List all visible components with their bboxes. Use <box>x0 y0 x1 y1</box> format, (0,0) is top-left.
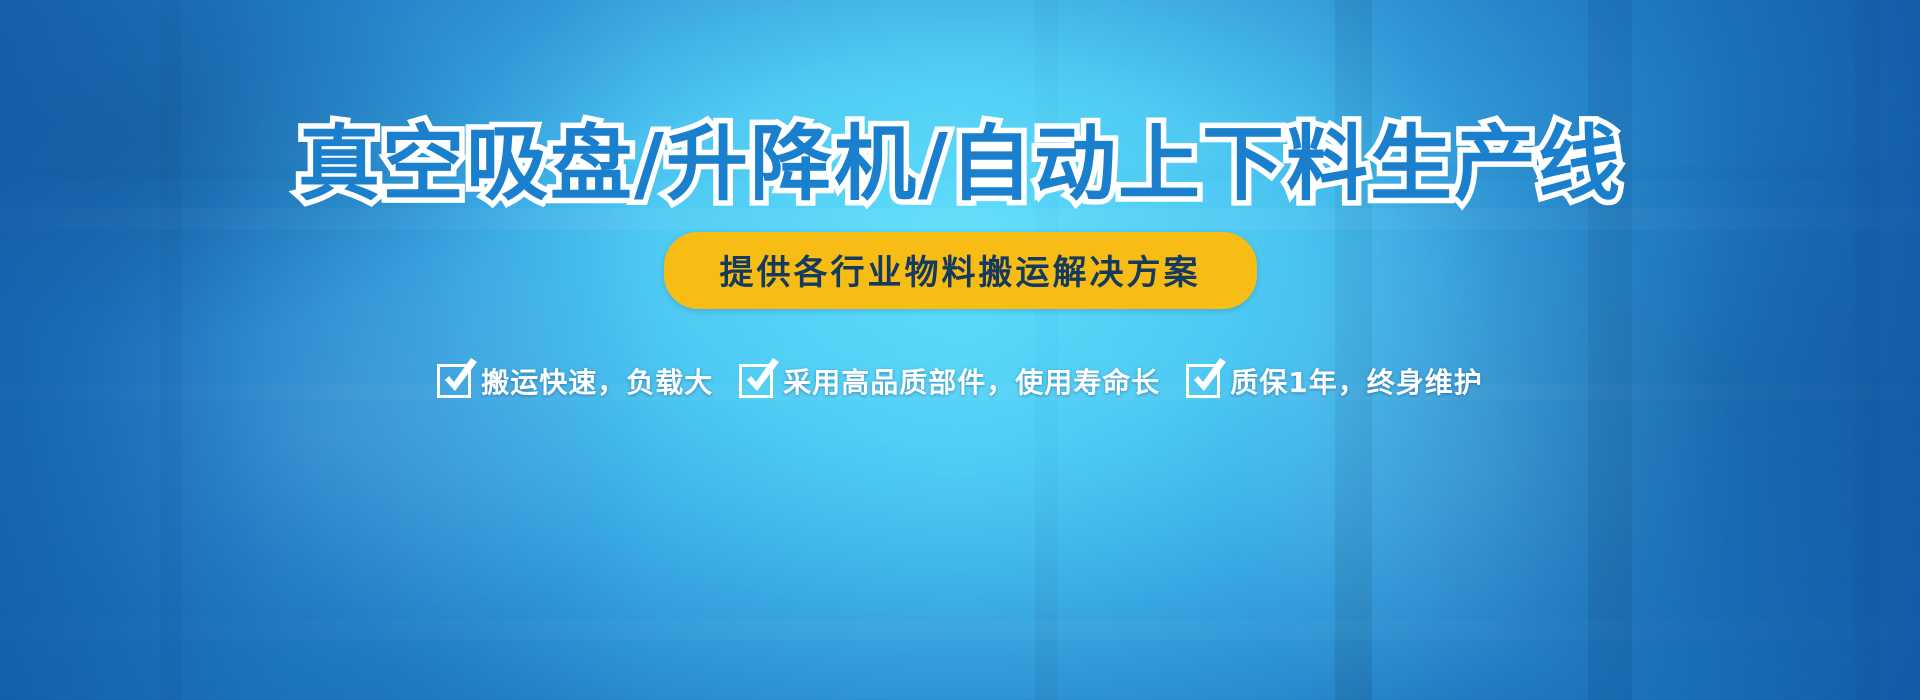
feature-item: 质保1年，终身维护 <box>1186 361 1482 401</box>
feature-list: 搬运快速，负载大 采用高品质部件，使用寿命长 质保1年，终身维护 <box>437 361 1483 401</box>
banner-content: 真空吸盘/升降机/自动上下料生产线 提供各行业物料搬运解决方案 搬运快速，负载大 <box>0 0 1920 700</box>
banner-headline: 真空吸盘/升降机/自动上下料生产线 <box>298 124 1622 206</box>
feature-item: 采用高品质部件，使用寿命长 <box>739 361 1160 401</box>
promo-banner: 真空吸盘/升降机/自动上下料生产线 提供各行业物料搬运解决方案 搬运快速，负载大 <box>0 0 1920 700</box>
banner-badge-row: 提供各行业物料搬运解决方案 <box>664 232 1257 309</box>
feature-label: 采用高品质部件，使用寿命长 <box>783 361 1160 401</box>
check-box-icon <box>437 364 471 398</box>
feature-label: 搬运快速，负载大 <box>481 361 713 401</box>
tagline-badge: 提供各行业物料搬运解决方案 <box>664 232 1257 309</box>
check-box-icon <box>1186 364 1220 398</box>
check-box-icon <box>739 364 773 398</box>
feature-label: 质保1年，终身维护 <box>1230 361 1482 401</box>
feature-item: 搬运快速，负载大 <box>437 361 713 401</box>
